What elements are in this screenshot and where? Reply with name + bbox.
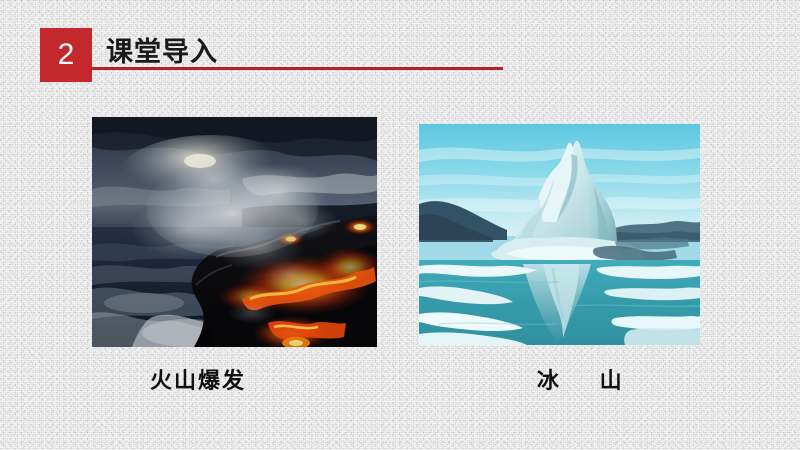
volcano-illustration: [92, 117, 377, 347]
title-underline-rule: [92, 67, 503, 70]
figure-image-volcano: [92, 117, 377, 347]
section-number-label: 2: [58, 38, 75, 72]
section-number-badge: 2: [40, 28, 92, 82]
figure-caption-volcano: 火山爆发: [150, 363, 246, 395]
figure-image-iceberg: [419, 124, 700, 345]
iceberg-illustration: [419, 124, 700, 345]
figure-caption-iceberg: 冰 山: [537, 363, 624, 395]
page-title: 课堂导入: [106, 30, 218, 69]
slide-canvas: 2 课堂导入: [0, 0, 800, 450]
